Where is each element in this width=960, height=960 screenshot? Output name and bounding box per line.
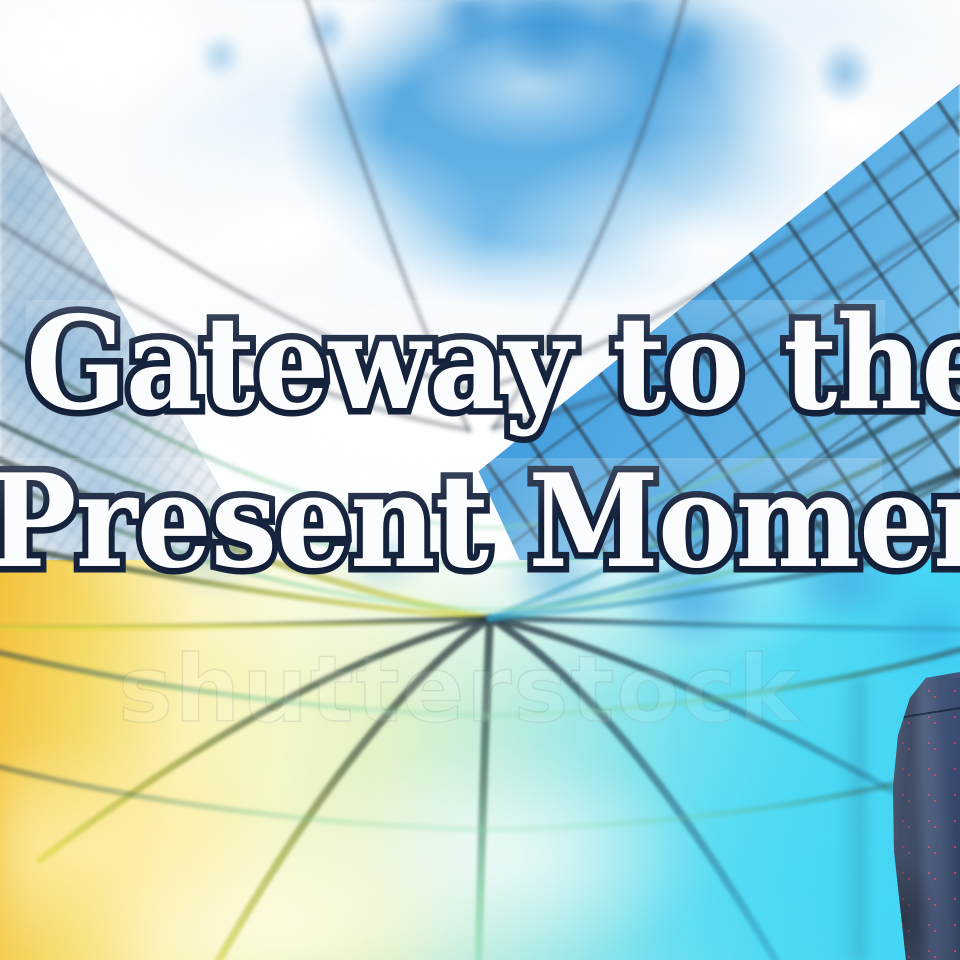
person-edge-shadow [840,678,866,960]
thumbnail-canvas: shutterstock Gateway to the Present Mome… [0,0,960,960]
perspective-grid [0,0,960,960]
